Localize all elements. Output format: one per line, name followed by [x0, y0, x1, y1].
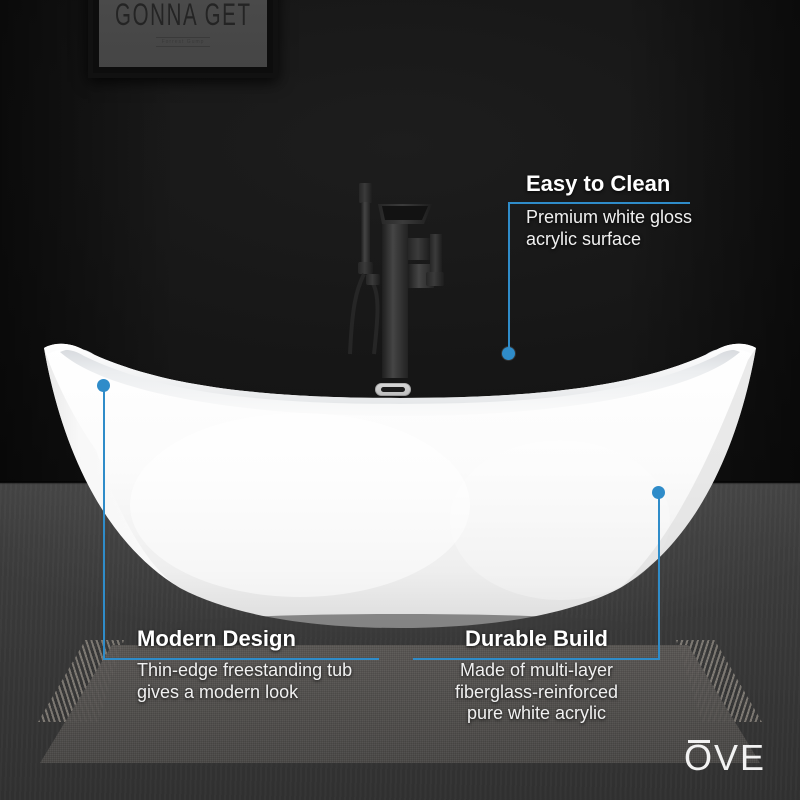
- callout-title: Modern Design: [137, 627, 407, 650]
- art-line-3: Forrest Gump: [156, 37, 211, 47]
- callout-modern-design: Modern Design Thin-edge freestanding tub…: [137, 627, 407, 703]
- callout-body-line: Made of multi-layer: [413, 660, 660, 681]
- callout-title: Durable Build: [413, 627, 660, 650]
- callout-durable-build: Durable Build Made of multi-layer fiberg…: [413, 627, 660, 724]
- callout-line-easy-to-clean-vertical: [508, 203, 510, 353]
- art-line-2: GONNA GET: [115, 0, 252, 33]
- brand-logo: OVE: [684, 737, 766, 779]
- product-infographic: what you're GONNA GET Forrest Gump: [0, 0, 800, 800]
- logo-macron-icon: [688, 740, 710, 743]
- callout-title: Easy to Clean: [526, 172, 756, 195]
- art-mat: what you're GONNA GET Forrest Gump: [99, 0, 267, 67]
- callout-body-line: Thin-edge freestanding tub: [137, 660, 407, 681]
- framed-wall-art: what you're GONNA GET Forrest Gump: [88, 0, 278, 78]
- callout-body: Thin-edge freestanding tub gives a moder…: [137, 660, 407, 702]
- callout-body: Premium white gloss acrylic surface: [526, 207, 756, 249]
- overflow-drain: [375, 383, 411, 396]
- callout-body-line: Premium white gloss: [526, 207, 756, 228]
- freestanding-bathtub: [0, 320, 800, 640]
- callout-body-line: gives a modern look: [137, 682, 407, 703]
- callout-body-line: pure white acrylic: [413, 703, 660, 724]
- callout-body-line: acrylic surface: [526, 229, 756, 250]
- callout-line-modern-design-vertical: [103, 385, 105, 659]
- callout-body-line: fiberglass-reinforced: [413, 682, 660, 703]
- callout-body: Made of multi-layer fiberglass-reinforce…: [413, 660, 660, 724]
- callout-easy-to-clean: Easy to Clean Premium white gloss acryli…: [526, 172, 756, 250]
- logo-text: OVE: [684, 737, 766, 778]
